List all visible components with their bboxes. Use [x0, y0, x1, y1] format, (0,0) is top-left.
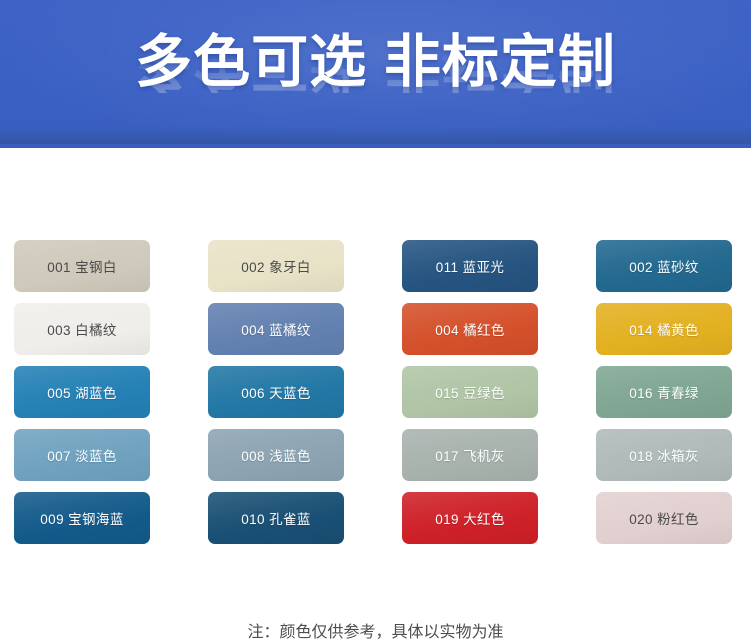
color-swatch[interactable]: 009 宝钢海蓝 — [14, 492, 150, 544]
color-swatch[interactable]: 006 天蓝色 — [208, 366, 344, 418]
color-swatch[interactable]: 015 豆绿色 — [402, 366, 538, 418]
color-swatch-label: 005 湖蓝色 — [47, 382, 117, 402]
color-swatch[interactable]: 019 大红色 — [402, 492, 538, 544]
page-title-reflection: 多色可选 非标定制 — [0, 47, 751, 93]
header-banner: 多色可选 非标定制 多色可选 非标定制 — [0, 0, 751, 148]
color-swatch[interactable]: 011 蓝亚光 — [402, 240, 538, 292]
color-swatch-label: 016 青春绿 — [629, 382, 699, 402]
color-swatch-label: 018 冰箱灰 — [629, 445, 699, 465]
color-swatch[interactable]: 018 冰箱灰 — [596, 429, 732, 481]
color-swatch-label: 004 橘红色 — [435, 319, 505, 339]
color-swatch[interactable]: 002 蓝砂纹 — [596, 240, 732, 292]
color-swatch[interactable]: 010 孔雀蓝 — [208, 492, 344, 544]
color-swatch-label: 010 孔雀蓝 — [241, 508, 311, 528]
color-swatch-label: 020 粉红色 — [629, 508, 699, 528]
color-swatch[interactable]: 004 橘红色 — [402, 303, 538, 355]
color-swatch-label: 015 豆绿色 — [435, 382, 505, 402]
color-swatch-label: 014 橘黄色 — [629, 319, 699, 339]
color-swatch-label: 002 象牙白 — [241, 256, 311, 276]
footer-disclaimer-note: 注：颜色仅供参考，具体以实物为准 — [0, 618, 751, 642]
color-swatch-label: 008 浅蓝色 — [241, 445, 311, 465]
color-swatch[interactable]: 007 淡蓝色 — [14, 429, 150, 481]
color-swatch-grid: 001 宝钢白002 象牙白011 蓝亚光002 蓝砂纹003 白橘纹004 蓝… — [14, 240, 737, 544]
color-swatch-label: 017 飞机灰 — [435, 445, 505, 465]
color-swatch-label: 019 大红色 — [435, 508, 505, 528]
color-swatch[interactable]: 004 蓝橘纹 — [208, 303, 344, 355]
banner-bottom-edge — [0, 144, 751, 148]
color-swatch-label: 006 天蓝色 — [241, 382, 311, 402]
color-swatch[interactable]: 001 宝钢白 — [14, 240, 150, 292]
color-swatch-label: 002 蓝砂纹 — [629, 256, 699, 276]
color-swatch[interactable]: 020 粉红色 — [596, 492, 732, 544]
color-swatch[interactable]: 002 象牙白 — [208, 240, 344, 292]
color-swatch-label: 011 蓝亚光 — [436, 256, 505, 276]
color-swatch[interactable]: 017 飞机灰 — [402, 429, 538, 481]
banner-title-block: 多色可选 非标定制 多色可选 非标定制 — [0, 34, 751, 139]
color-swatch[interactable]: 003 白橘纹 — [14, 303, 150, 355]
color-swatch[interactable]: 005 湖蓝色 — [14, 366, 150, 418]
color-swatch[interactable]: 014 橘黄色 — [596, 303, 732, 355]
color-swatch-label: 003 白橘纹 — [47, 319, 117, 339]
color-swatch[interactable]: 008 浅蓝色 — [208, 429, 344, 481]
color-swatch-label: 004 蓝橘纹 — [241, 319, 311, 339]
color-swatch[interactable]: 016 青春绿 — [596, 366, 732, 418]
color-swatch-label: 009 宝钢海蓝 — [40, 508, 123, 528]
color-swatch-label: 007 淡蓝色 — [47, 445, 117, 465]
color-swatch-label: 001 宝钢白 — [47, 256, 117, 276]
